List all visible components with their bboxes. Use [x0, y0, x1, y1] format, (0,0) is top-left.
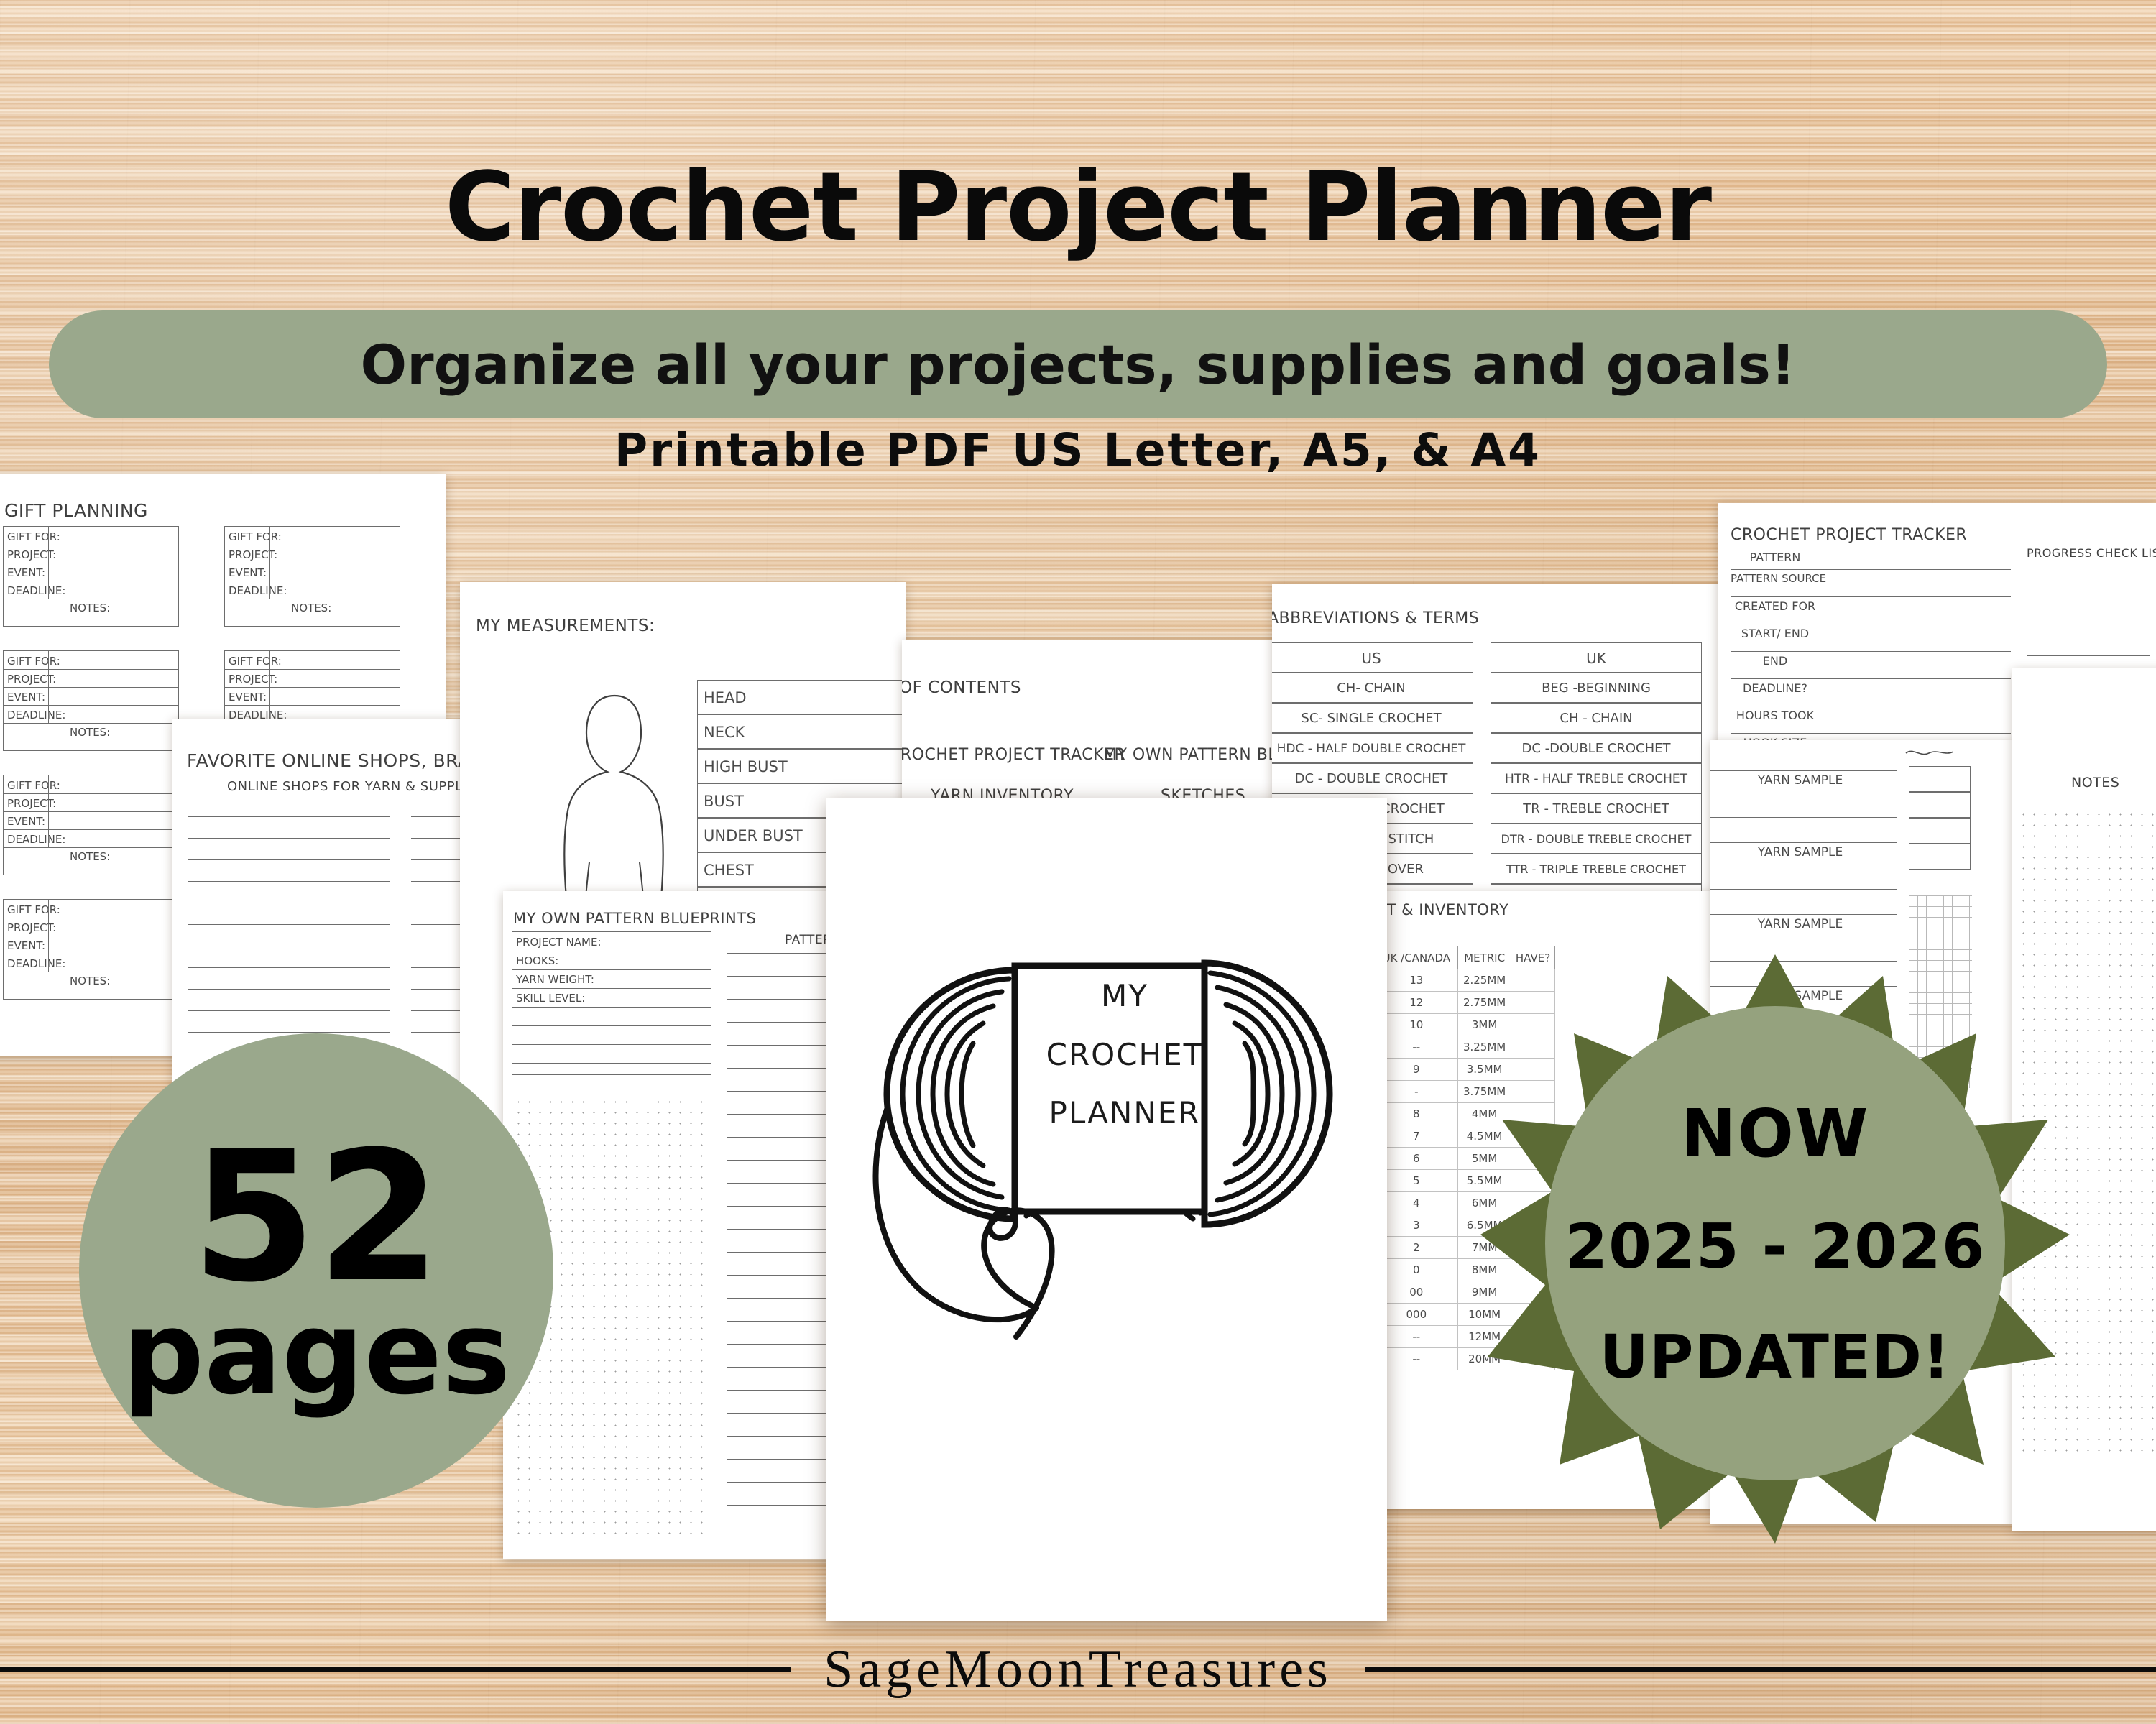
abbrev-row: DC -DOUBLE CROCHET: [1491, 733, 1702, 763]
abbrev-us-cell: SC- SINGLE CROCHET: [1301, 711, 1441, 726]
measure-row: HEAD: [697, 680, 906, 714]
footer-rule-left: [0, 1667, 791, 1672]
hook-cell: 0: [1375, 1259, 1458, 1281]
gift-card: GIFT FOR: PROJECT: EVENT: DEADLINE: NOTE…: [224, 526, 400, 627]
measure-label: CHEST: [704, 862, 754, 879]
abbrev-us-cell: HDC - HALF DOUBLE CROCHET: [1277, 742, 1466, 756]
abbrev-us-cell: DC - DOUBLE CROCHET: [1295, 771, 1448, 786]
formats-text: Printable PDF US Letter, A5, & A4: [0, 424, 2156, 476]
checklist-title: PROGRESS CHECK LIST:: [2027, 546, 2156, 560]
abbrev-row: SC- SINGLE CROCHET: [1272, 703, 1473, 733]
footer: SageMoonTreasures: [0, 1630, 2156, 1709]
hook-cell: 7: [1375, 1125, 1458, 1148]
yarn-strand-icon: [1904, 745, 1955, 760]
measure-label: BUST: [704, 793, 744, 810]
brand-name: SageMoonTreasures: [791, 1639, 1365, 1700]
subtitle-banner: Organize all your projects, supplies and…: [49, 310, 2107, 418]
abbrev-row: DTR - DOUBLE TREBLE CROCHET: [1491, 824, 1702, 854]
gift-card: GIFT FOR: PROJECT: EVENT: DEADLINE: NOTE…: [3, 775, 179, 875]
blueprints-field-table: PROJECT NAME: HOOKS: YARN WEIGHT: SKILL …: [512, 931, 711, 1075]
page-pattern-blueprints[interactable]: MY OWN PATTERN BLUEPRINTS PROJECT NAME: …: [503, 891, 848, 1559]
abbrev-row: TTR - TRIPLE TREBLE CROCHET: [1491, 854, 1702, 884]
abbrev-uk-header: UK: [1586, 650, 1606, 667]
abbrev-row: HTR - HALF TREBLE CROCHET: [1491, 763, 1702, 793]
cover-title-block: MY CROCHET PLANNER: [1042, 974, 1207, 1135]
page-title: Crochet Project Planner: [0, 152, 2156, 263]
blueprints-title: MY OWN PATTERN BLUEPRINTS: [513, 910, 756, 927]
hook-col-header: UK /CANADA: [1375, 946, 1458, 969]
blueprint-field-label: YARN WEIGHT:: [516, 973, 594, 986]
gift-card: GIFT FOR: PROJECT: EVENT: DEADLINE: NOTE…: [3, 650, 179, 751]
abbrev-row: DC - DOUBLE CROCHET: [1272, 763, 1473, 793]
badge-line-now: NOW: [1681, 1095, 1870, 1172]
pages-count-number: 52: [191, 1135, 441, 1300]
hook-cell: 6: [1375, 1148, 1458, 1170]
pages-count-word: pages: [122, 1300, 511, 1406]
abbrev-header-row: UK: [1491, 642, 1702, 673]
hook-cell: 000: [1375, 1304, 1458, 1326]
blueprint-field-label: HOOKS:: [516, 954, 558, 967]
cover-line-1: MY: [1042, 974, 1207, 1018]
abbrev-row: CH- CHAIN: [1272, 673, 1473, 703]
cover-line-2: CROCHET: [1042, 1033, 1207, 1077]
blueprint-field-label: PROJECT NAME:: [516, 936, 602, 949]
tracker-field-label: CREATED FOR: [1735, 599, 1815, 613]
abbrev-row: BEG -BEGINNING: [1491, 673, 1702, 703]
hook-cell: -: [1375, 1081, 1458, 1103]
hook-cell: 5: [1375, 1170, 1458, 1192]
tracker-field-label: DEADLINE?: [1743, 681, 1807, 695]
abbreviations-title: ABBREVIATIONS & TERMS: [1272, 609, 1479, 627]
page-cover[interactable]: MY CROCHET PLANNER: [826, 798, 1387, 1621]
pages-count-badge: 52 pages: [79, 1033, 553, 1508]
abbrev-uk-cell: HTR - HALF TREBLE CROCHET: [1505, 772, 1687, 786]
abbrev-row: CH - CHAIN: [1491, 703, 1702, 733]
abbrev-us-cell: CH- CHAIN: [1337, 681, 1406, 696]
abbrev-uk-cell: TTR - TRIPLE TREBLE CROCHET: [1506, 862, 1686, 876]
contents-item[interactable]: CROCHET PROJECT TRACKER: [902, 746, 1125, 764]
hook-cell: 8: [1375, 1103, 1458, 1125]
measure-label: UNDER BUST: [704, 827, 803, 844]
hook-cell: --: [1375, 1348, 1458, 1370]
yarn-sample-label: YARN SAMPLE: [1758, 845, 1843, 859]
hook-cell: 2: [1375, 1237, 1458, 1259]
abbrev-row: TR - TREBLE CROCHET: [1491, 793, 1702, 824]
yarn-sample-label: YARN SAMPLE: [1758, 917, 1843, 931]
yarn-sample-label: YARN SAMPLE: [1758, 773, 1843, 788]
project-tracker-title: CROCHET PROJECT TRACKER: [1731, 526, 1967, 544]
measure-row: HIGH BUST: [697, 749, 906, 783]
tracker-field-label: HOURS TOOK: [1736, 709, 1814, 722]
hook-cell: 9: [1375, 1059, 1458, 1081]
footer-rule-right: [1365, 1667, 2156, 1672]
blueprint-field-label: SKILL LEVEL:: [516, 992, 585, 1005]
hook-cell: --: [1375, 1326, 1458, 1348]
measure-label: HIGH BUST: [704, 758, 788, 775]
hook-cell: 3: [1375, 1214, 1458, 1237]
yarn-sample-box: YARN SAMPLE: [1710, 770, 1897, 818]
abbrev-us-header: US: [1361, 650, 1381, 667]
abbrev-uk-cell: DC -DOUBLE CROCHET: [1521, 741, 1670, 756]
cover-line-3: PLANNER: [1042, 1092, 1207, 1135]
hook-cell: --: [1375, 1036, 1458, 1059]
tracker-field-label: END: [1763, 654, 1787, 668]
measure-label: HEAD: [704, 689, 747, 706]
yarn-sample-box: YARN SAMPLE: [1710, 842, 1897, 890]
contents-title: OF CONTENTS: [902, 678, 1021, 697]
hook-cell: 13: [1375, 969, 1458, 992]
measure-row: NECK: [697, 714, 906, 749]
hook-cell: 4: [1375, 1192, 1458, 1214]
notes-title: NOTES: [2071, 775, 2119, 790]
hook-cell: 10: [1375, 1014, 1458, 1036]
badge-line-updated: UPDATED!: [1600, 1322, 1951, 1392]
badge-line-years: 2025 - 2026: [1565, 1211, 1985, 1283]
measure-label: NECK: [704, 724, 745, 741]
tracker-field-label: START/ END: [1741, 627, 1809, 640]
subtitle-text: Organize all your projects, supplies and…: [360, 333, 1795, 397]
measurements-title: MY MEASUREMENTS:: [476, 617, 655, 635]
hook-cell: 00: [1375, 1281, 1458, 1304]
favorite-shops-subtitle: ONLINE SHOPS FOR YARN & SUPPLIES: [227, 779, 484, 794]
hook-cell: 12: [1375, 992, 1458, 1014]
abbrev-uk-cell: BEG -BEGINNING: [1542, 681, 1651, 696]
tracker-field-label: PATTERN SOURCE: [1731, 572, 1826, 585]
abbrev-uk-cell: TR - TREBLE CROCHET: [1523, 801, 1669, 816]
gift-card: GIFT FOR: PROJECT: EVENT: DEADLINE: NOTE…: [3, 899, 179, 1000]
tracker-field-label: PATTERN: [1750, 550, 1801, 564]
gift-planning-title: GIFT PLANNING: [4, 500, 148, 521]
abbrev-header-row: US: [1272, 642, 1473, 673]
abbrev-uk-cell: DTR - DOUBLE TREBLE CROCHET: [1501, 832, 1692, 846]
abbrev-uk-cell: CH - CHAIN: [1560, 711, 1632, 726]
updated-badge: NOW 2025 - 2026 UPDATED!: [1545, 1006, 2005, 1480]
abbrev-row: HDC - HALF DOUBLE CROCHET: [1272, 733, 1473, 763]
gift-card: GIFT FOR: PROJECT: EVENT: DEADLINE: NOTE…: [3, 526, 179, 627]
